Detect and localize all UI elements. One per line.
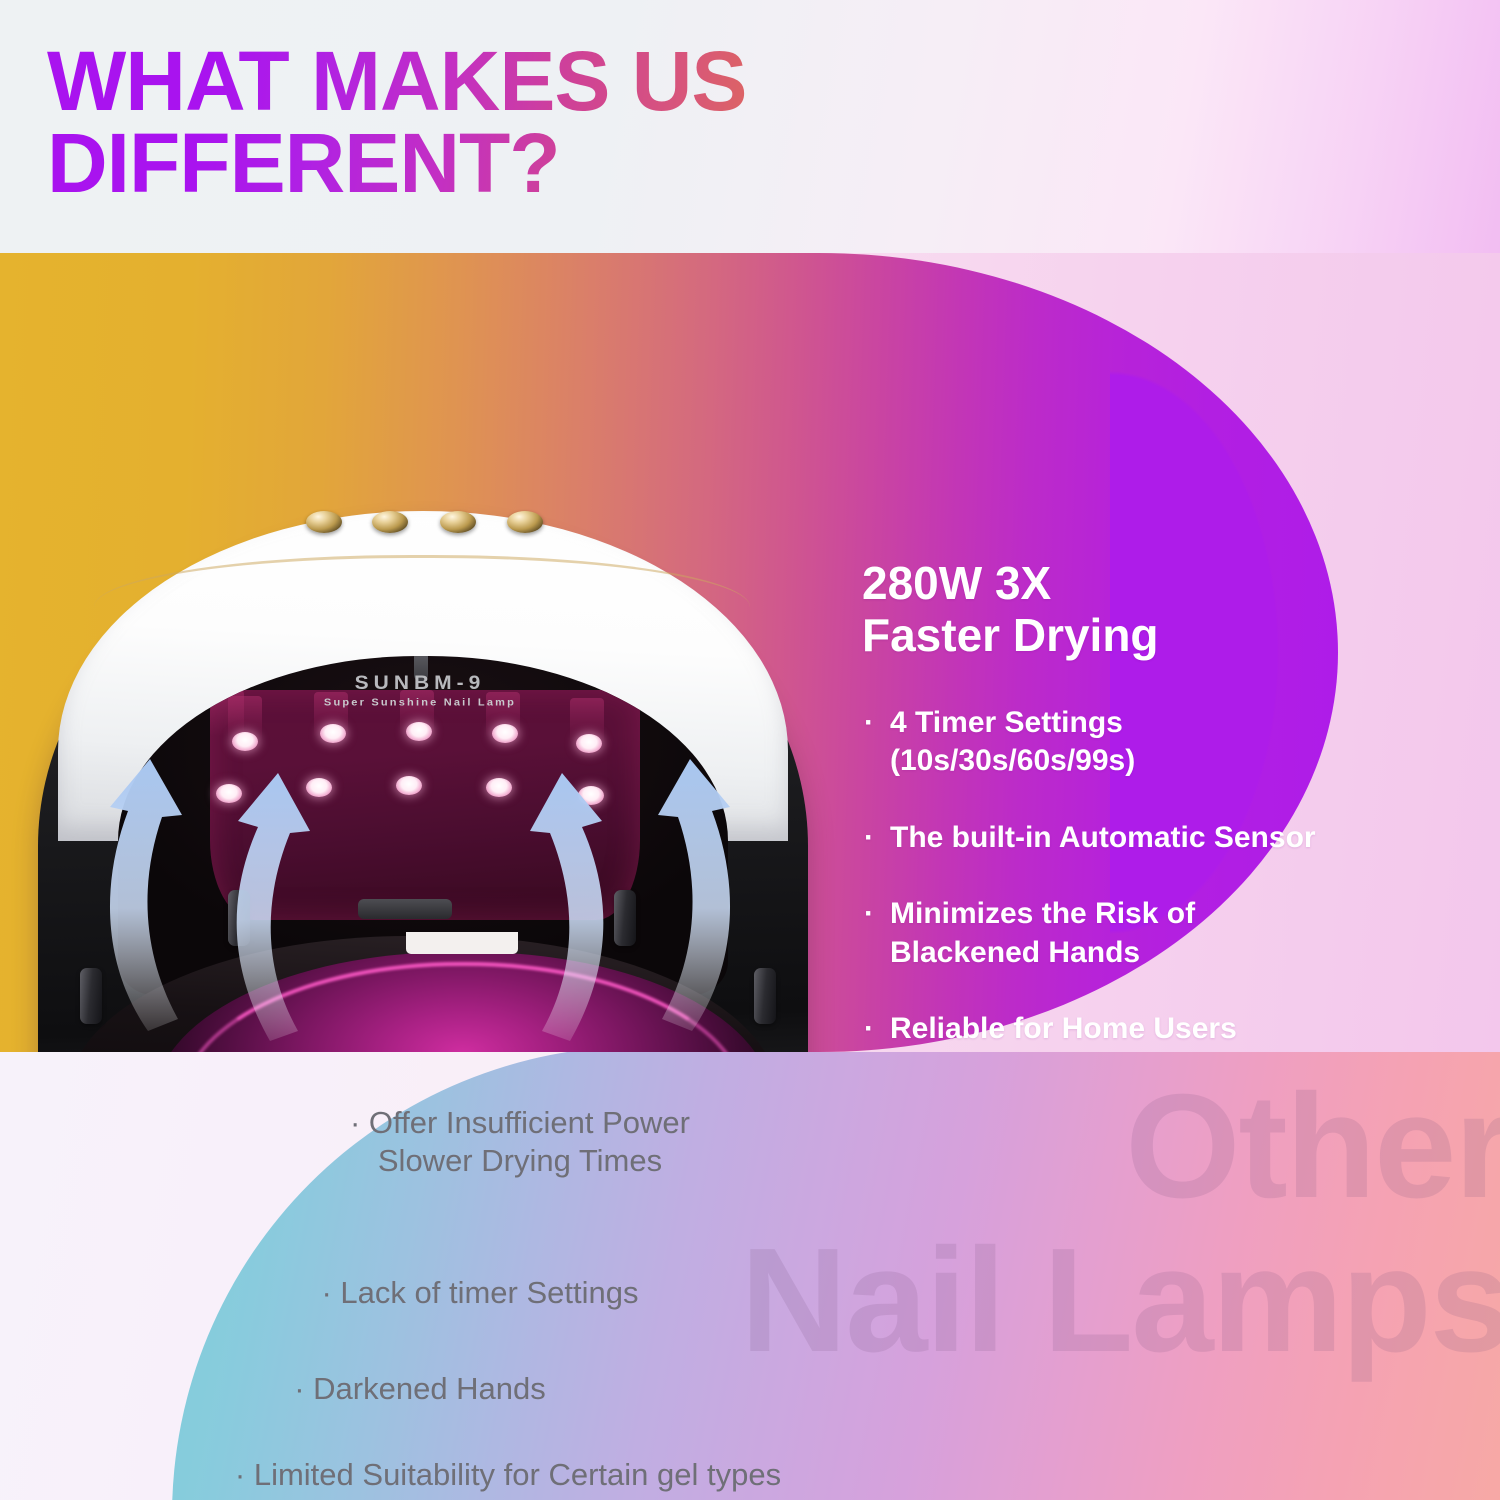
base-post-3 [80, 968, 102, 1024]
led-light [216, 784, 242, 803]
lamp-knob-3 [440, 511, 476, 533]
led-light [396, 776, 422, 795]
led-plate [210, 690, 640, 920]
feature-bullet-item: ·4 Timer Settings (10s/30s/60s/99s) [862, 704, 1442, 781]
feature-heading: 280W 3X Faster Drying [862, 558, 1442, 662]
base-shell [68, 936, 778, 1052]
base-post-2 [614, 890, 636, 946]
led-light [576, 734, 602, 753]
bullet-dot-icon: · [864, 704, 874, 742]
feature-bullet-item: ·The built-in Automatic Sensor [862, 819, 1442, 857]
bullet-dot-icon: · [864, 819, 874, 857]
drawback-item: · Lack of timer Settings [100, 1274, 860, 1312]
lamp-inner-chin [358, 899, 452, 919]
product-branding: SUNBM-9 Super Sunshine Nail Lamp [10, 673, 830, 709]
feature-bullet-item: ·Minimizes the Risk of Blackened Hands [862, 895, 1442, 972]
led-light [486, 778, 512, 797]
competitor-panel: Other Nail Lamps · Offer Insufficient Po… [0, 1052, 1500, 1500]
drawback-item: · Offer Insufficient Power Slower Drying… [140, 1104, 900, 1180]
brand-tagline: Super Sunshine Nail Lamp [10, 697, 830, 708]
drawback-item: · Darkened Hands [40, 1370, 800, 1408]
led-light [306, 778, 332, 797]
led-light [320, 724, 346, 743]
feature-bullet-text: 4 Timer Settings (10s/30s/60s/99s) [890, 706, 1135, 777]
lamp-knob-4 [507, 511, 543, 533]
base-post-4 [754, 968, 776, 1024]
product-image-nail-lamp: SUNBM-9 Super Sunshine Nail Lamp [10, 371, 830, 1052]
base-post-1 [228, 890, 250, 946]
feature-bullet-text: Reliable for Home Users and Salon Profes… [890, 1012, 1238, 1052]
base-glow-rim [180, 962, 746, 1052]
page-title: WHAT MAKES US DIFFERENT? [47, 40, 947, 205]
lamp-gold-trim [94, 555, 750, 607]
base-notch [406, 932, 518, 954]
base-inner-glow [154, 952, 772, 1052]
feature-bullet-item: ·Reliable for Home Users and Salon Profe… [862, 1010, 1442, 1052]
feature-bullet-list: ·4 Timer Settings (10s/30s/60s/99s) ·The… [862, 704, 1442, 1052]
lamp-knob-1 [306, 511, 342, 533]
lamp-base-tray [28, 936, 818, 1052]
led-light [492, 724, 518, 743]
feature-bullet-text: The built-in Automatic Sensor [890, 821, 1316, 854]
bullet-dot-icon: · [864, 895, 874, 933]
bullet-dot-icon: · [864, 1010, 874, 1048]
led-light [406, 722, 432, 741]
header-banner: WHAT MAKES US DIFFERENT? [0, 0, 1500, 253]
feature-panel: SUNBM-9 Super Sunshine Nail Lamp [0, 253, 1500, 1052]
lamp-knob-2 [372, 511, 408, 533]
brand-name: SUNBM-9 [10, 673, 830, 695]
led-light [578, 786, 604, 805]
led-light [232, 732, 258, 751]
feature-copy: 280W 3X Faster Drying ·4 Timer Settings … [862, 558, 1442, 1052]
drawback-item: · Limited Suitability for Certain gel ty… [78, 1456, 938, 1494]
feature-bullet-text: Minimizes the Risk of Blackened Hands [890, 897, 1195, 968]
